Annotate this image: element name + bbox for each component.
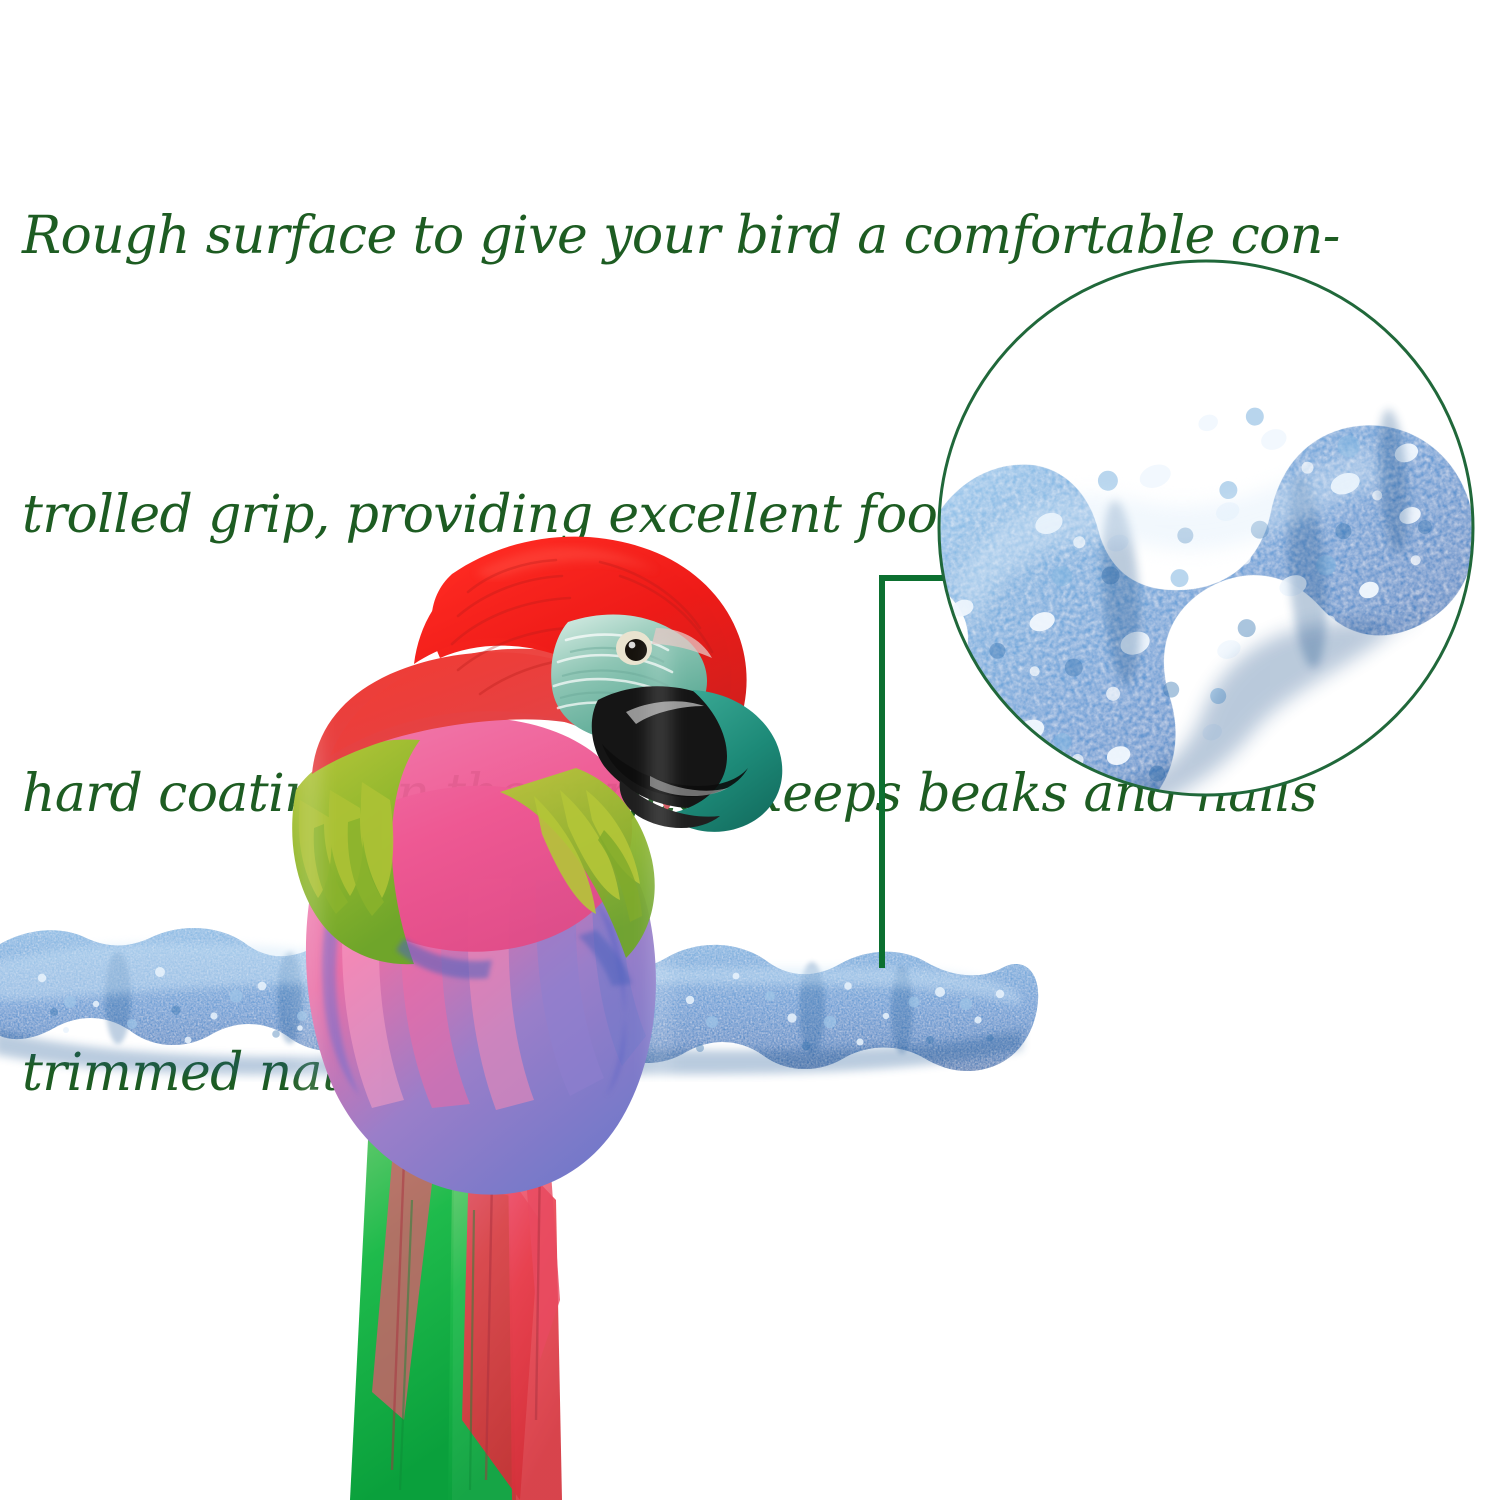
detail-callout [886, 261, 1487, 863]
product-feature-image: Rough surface to give your bird a comfor… [0, 0, 1487, 1500]
product-photo-composite [0, 0, 1487, 1500]
callout-leader-line [882, 578, 945, 968]
eye [616, 631, 652, 665]
